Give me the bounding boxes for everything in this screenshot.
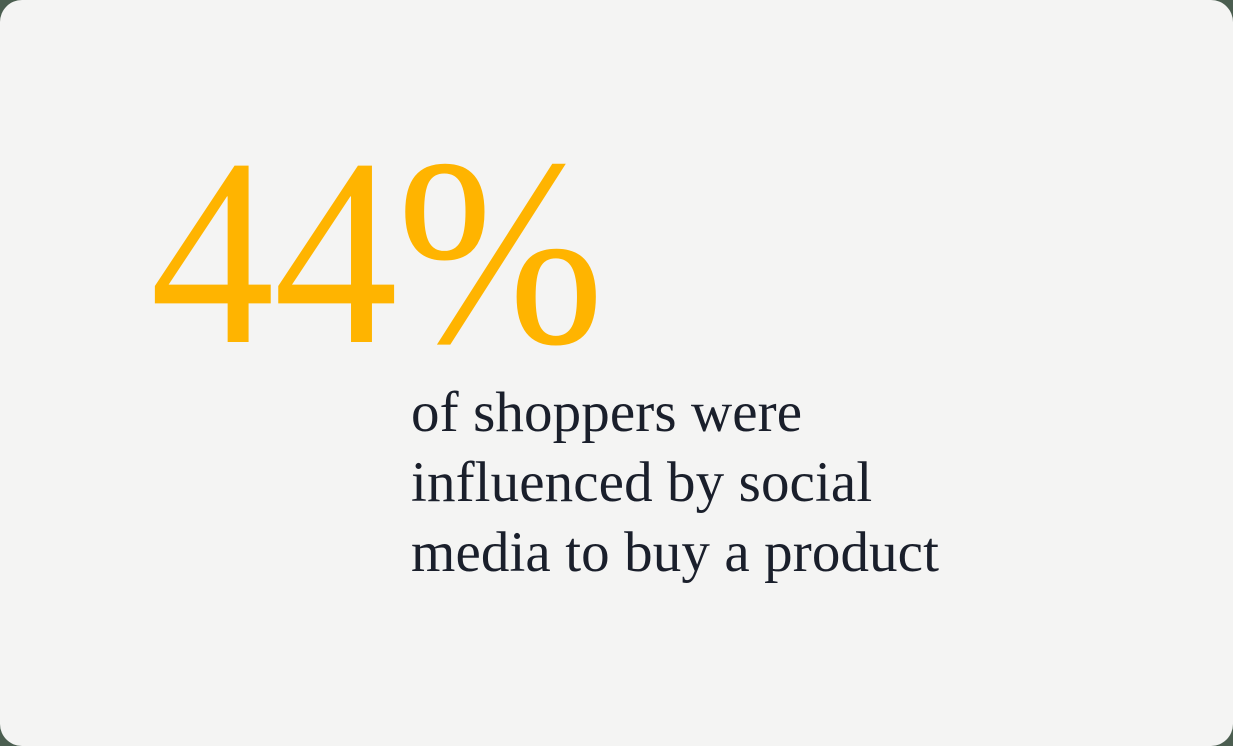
statistic-value: 44%: [150, 118, 603, 386]
description-line-3: media to buy a product: [411, 518, 1111, 588]
statistic-card: 44% of shoppers were influenced by socia…: [0, 0, 1233, 746]
description-line-2: influenced by social: [411, 448, 1111, 518]
description-line-1: of shoppers were: [411, 378, 1111, 448]
statistic-description: of shoppers were influenced by social me…: [411, 378, 1111, 588]
